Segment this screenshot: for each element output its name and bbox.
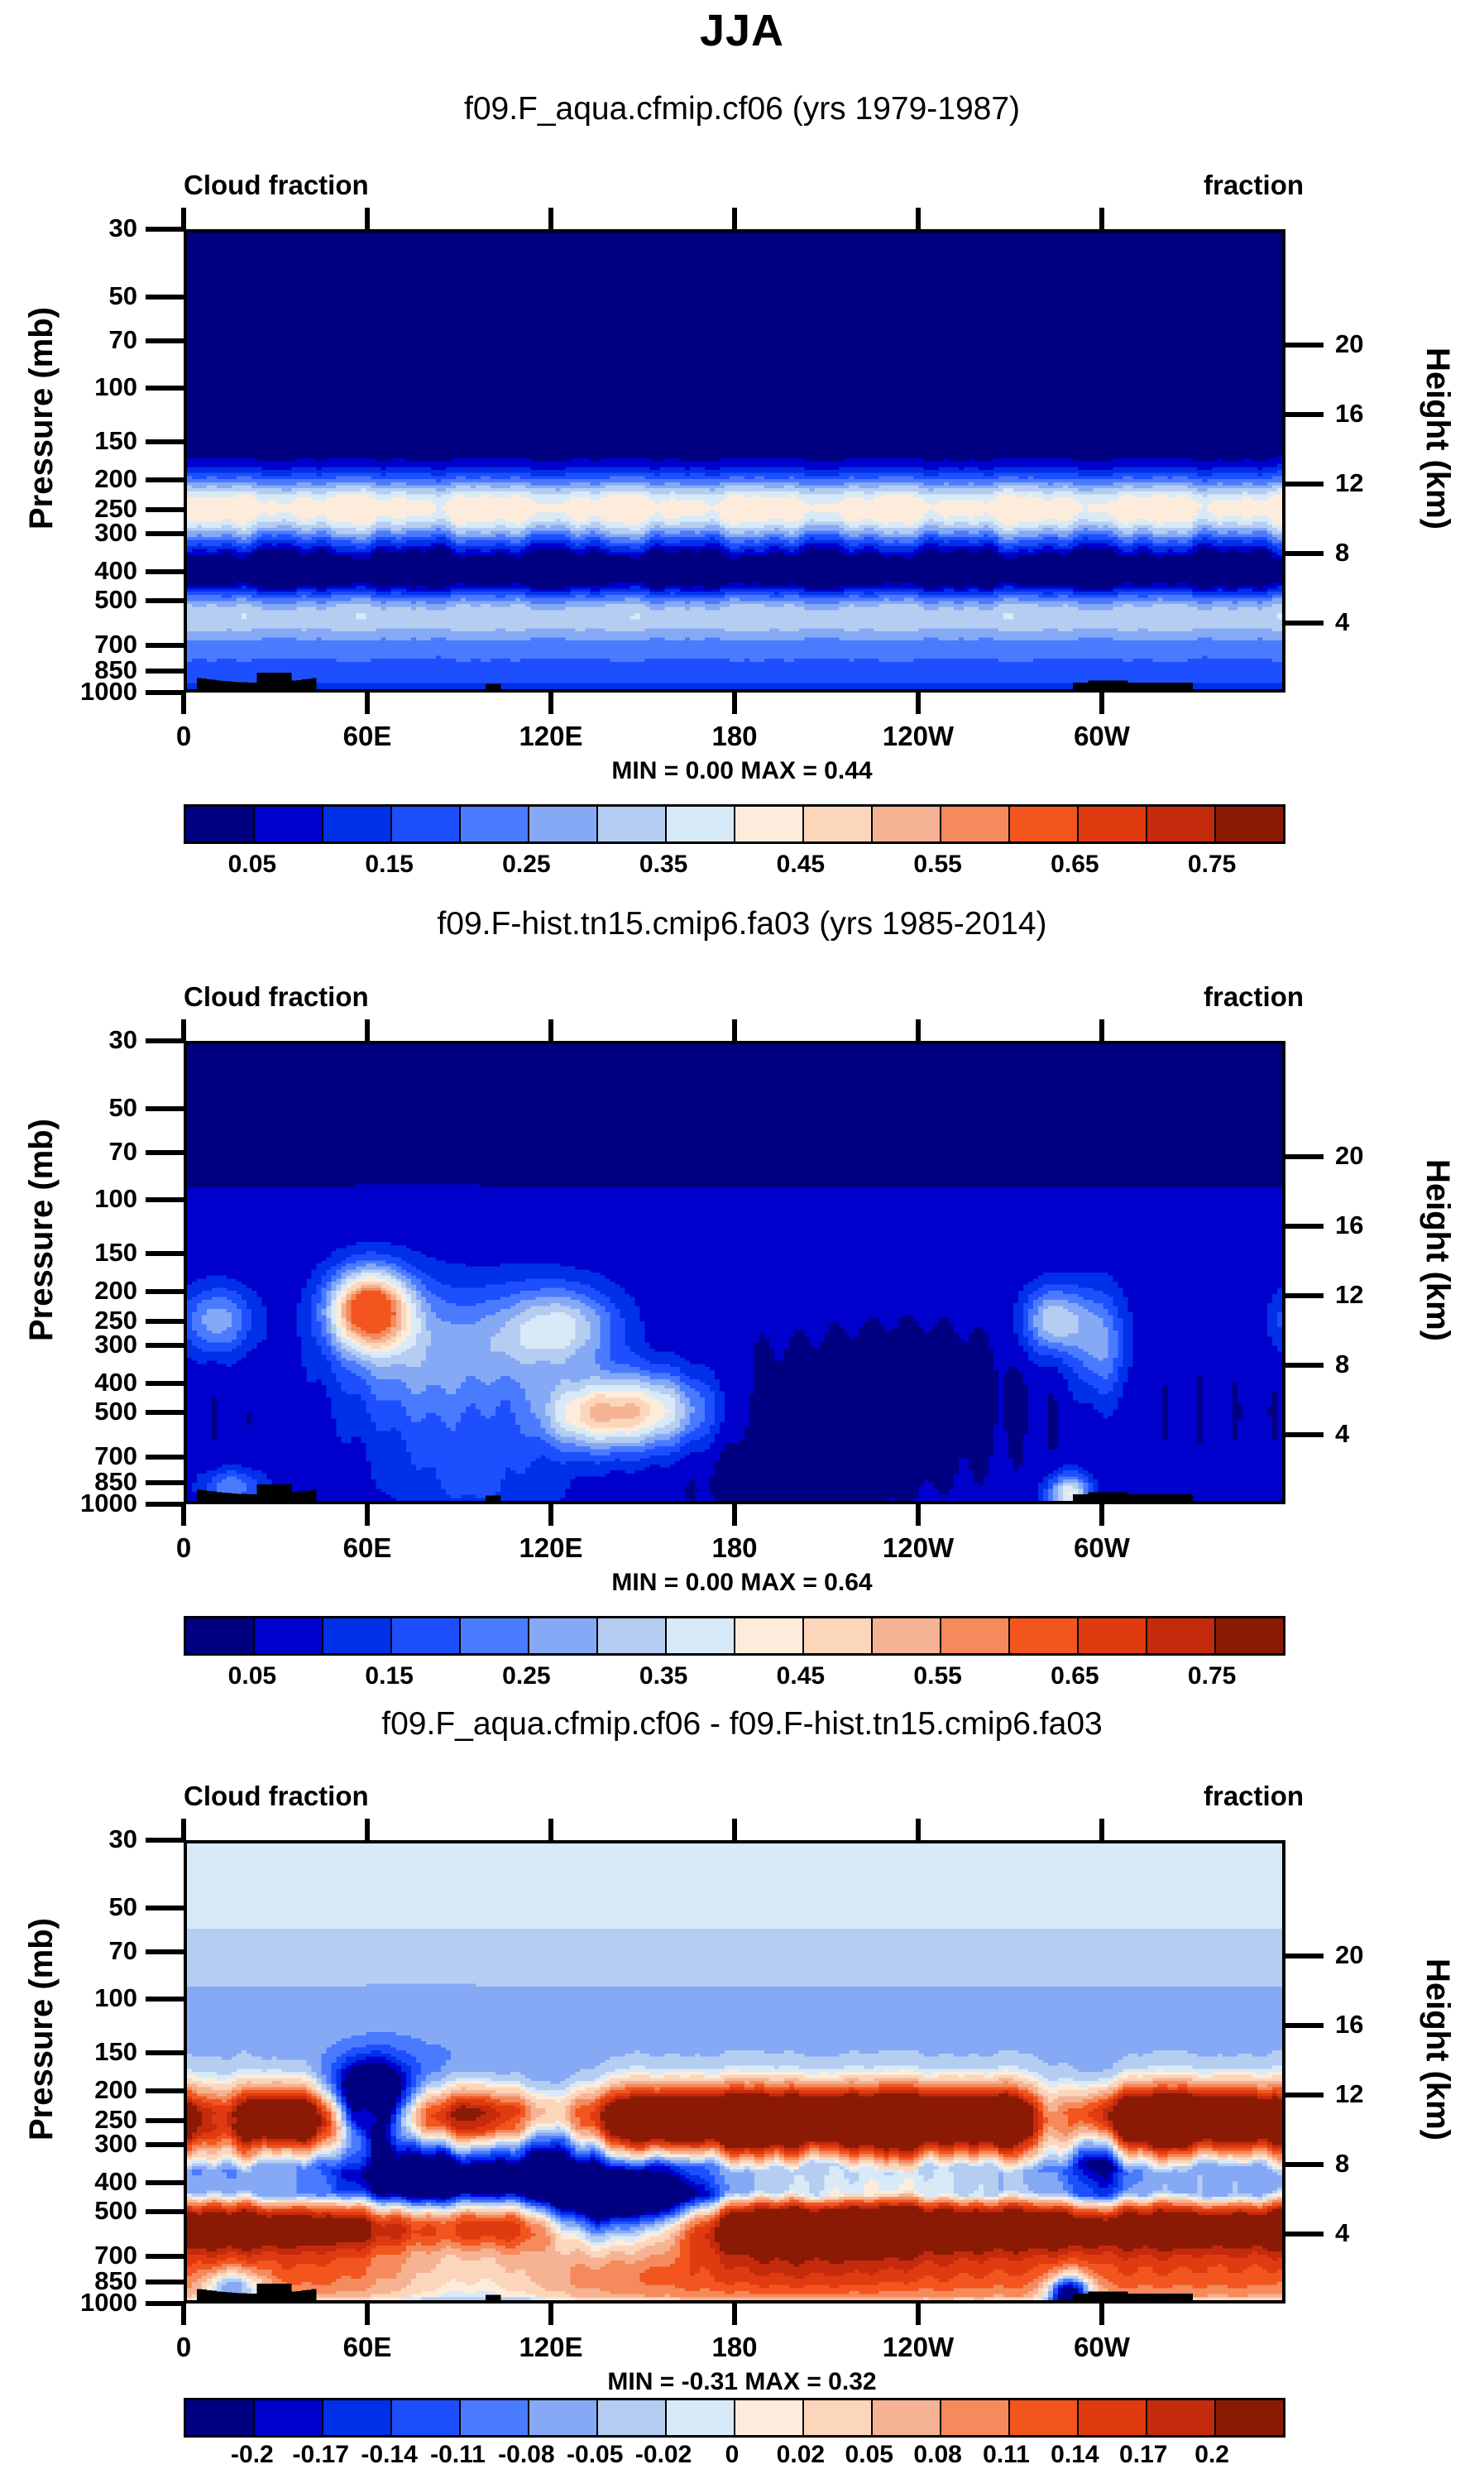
pressure-tick-label: 70 — [13, 1936, 137, 1966]
panel-3-y2-axis-name: Height (km) — [1419, 1958, 1456, 2141]
pressure-tick-label: 200 — [13, 1276, 137, 1306]
longitude-tick — [1099, 208, 1104, 229]
pressure-tick-label: 30 — [13, 213, 137, 243]
longitude-tick — [181, 693, 186, 714]
pressure-tick-label: 150 — [13, 1238, 137, 1268]
pressure-tick — [146, 531, 184, 536]
longitude-tick — [548, 1019, 553, 1041]
longitude-tick — [365, 1504, 370, 1526]
pressure-tick — [146, 1906, 184, 1910]
pressure-tick-label: 1000 — [13, 1489, 137, 1518]
colorbar-cell — [1147, 2400, 1216, 2435]
height-tick-label: 20 — [1335, 1940, 1434, 1970]
height-tick — [1285, 1432, 1324, 1437]
pressure-tick-label: 300 — [13, 2129, 137, 2159]
pressure-tick-label: 70 — [13, 1137, 137, 1167]
longitude-tick — [916, 1019, 921, 1041]
longitude-tick-label: 60E — [285, 721, 450, 752]
pressure-tick-label: 1000 — [13, 2288, 137, 2318]
longitude-tick — [548, 1504, 553, 1526]
colorbar-cell — [1010, 1618, 1079, 1653]
panel-2-variable-label: Cloud fraction — [184, 981, 369, 1013]
height-tick-label: 8 — [1335, 1350, 1434, 1379]
longitude-tick — [181, 1504, 186, 1526]
longitude-tick-label: 60W — [1019, 1532, 1185, 1564]
panel-1-title: f09.F_aqua.cfmip.cf06 (yrs 1979-1987) — [0, 91, 1484, 127]
longitude-tick-label: 60W — [1019, 2332, 1185, 2363]
pressure-tick — [146, 1381, 184, 1386]
colorbar-cell — [1010, 807, 1079, 841]
pressure-tick — [146, 569, 184, 574]
colorbar-cell — [1147, 807, 1216, 841]
height-tick-label: 4 — [1335, 607, 1434, 637]
pressure-tick — [146, 1949, 184, 1954]
height-tick — [1285, 621, 1324, 626]
pressure-tick — [146, 1197, 184, 1202]
colorbar-cell — [392, 807, 461, 841]
height-tick-label: 12 — [1335, 468, 1434, 498]
colorbar-cell — [804, 2400, 873, 2435]
longitude-tick — [181, 208, 186, 229]
colorbar-cell — [186, 2400, 255, 2435]
pressure-tick — [146, 227, 184, 232]
pressure-tick — [146, 386, 184, 391]
pressure-tick-label: 500 — [13, 2196, 137, 2226]
colorbar-cell — [529, 1618, 598, 1653]
pressure-tick — [146, 2254, 184, 2259]
pressure-tick-label: 300 — [13, 518, 137, 548]
height-tick-label: 4 — [1335, 2218, 1434, 2248]
longitude-tick-label: 120E — [468, 1532, 634, 1564]
pressure-tick-label: 300 — [13, 1330, 137, 1359]
longitude-tick-label: 180 — [652, 1532, 817, 1564]
colorbar-cell — [323, 1618, 392, 1653]
colorbar-cell — [1010, 2400, 1079, 2435]
panel-2-minmax: MIN = 0.00 MAX = 0.64 — [0, 1569, 1484, 1597]
height-tick-label: 12 — [1335, 2079, 1434, 2109]
contour-field — [187, 1044, 1282, 1501]
pressure-tick — [146, 439, 184, 444]
longitude-tick — [548, 693, 553, 714]
longitude-tick — [732, 1504, 737, 1526]
pressure-tick — [146, 669, 184, 674]
panel-2-colorbar — [184, 1616, 1285, 1656]
colorbar-cell — [598, 1618, 667, 1653]
height-tick — [1285, 2232, 1324, 2236]
longitude-tick-label: 0 — [101, 721, 266, 752]
colorbar-cell — [255, 807, 323, 841]
pressure-tick — [146, 2180, 184, 2185]
longitude-tick — [916, 1819, 921, 1840]
longitude-tick — [365, 1819, 370, 1840]
pressure-tick-label: 100 — [13, 372, 137, 402]
pressure-tick — [146, 1997, 184, 2002]
colorbar-cell — [186, 1618, 255, 1653]
colorbar-cell — [323, 807, 392, 841]
pressure-tick-label: 70 — [13, 325, 137, 355]
pressure-tick — [146, 598, 184, 603]
pressure-tick-label: 30 — [13, 1824, 137, 1854]
colorbar-cell — [667, 807, 735, 841]
colorbar-cell — [1147, 1618, 1216, 1653]
colorbar-cell — [1079, 807, 1147, 841]
colorbar-cell — [392, 2400, 461, 2435]
longitude-tick-label: 180 — [652, 721, 817, 752]
longitude-tick — [1099, 2304, 1104, 2325]
contour-field — [187, 233, 1282, 689]
pressure-tick-label: 400 — [13, 2167, 137, 2197]
longitude-tick — [732, 1819, 737, 1840]
height-tick — [1285, 482, 1324, 487]
longitude-tick — [1099, 1504, 1104, 1526]
pressure-tick — [146, 1410, 184, 1415]
colorbar-cell — [461, 1618, 529, 1653]
pressure-tick — [146, 1251, 184, 1256]
longitude-tick-label: 120E — [468, 2332, 634, 2363]
longitude-tick — [365, 1019, 370, 1041]
colorbar-cell — [873, 807, 941, 841]
pressure-tick-label: 150 — [13, 426, 137, 456]
colorbar-cell — [598, 2400, 667, 2435]
longitude-tick-label: 0 — [101, 1532, 266, 1564]
colorbar-cell — [735, 1618, 804, 1653]
colorbar-cell — [941, 2400, 1010, 2435]
height-tick — [1285, 2023, 1324, 2028]
colorbar-cell — [186, 807, 255, 841]
colorbar-cell — [1079, 2400, 1147, 2435]
height-tick — [1285, 1293, 1324, 1298]
longitude-tick-label: 120E — [468, 721, 634, 752]
pressure-tick — [146, 2050, 184, 2055]
pressure-tick-label: 400 — [13, 1368, 137, 1398]
pressure-tick-label: 30 — [13, 1025, 137, 1055]
contour-field — [187, 1843, 1282, 2300]
colorbar-cell — [735, 807, 804, 841]
panel-3-minmax: MIN = -0.31 MAX = 0.32 — [0, 2368, 1484, 2396]
longitude-tick-label: 120W — [835, 2332, 1001, 2363]
pressure-tick — [146, 643, 184, 648]
longitude-tick-label: 180 — [652, 2332, 817, 2363]
pressure-tick — [146, 1289, 184, 1294]
pressure-tick — [146, 338, 184, 343]
pressure-tick — [146, 507, 184, 512]
colorbar-cell — [667, 2400, 735, 2435]
height-tick-label: 4 — [1335, 1419, 1434, 1449]
pressure-tick — [146, 1150, 184, 1155]
colorbar-cell — [1216, 807, 1283, 841]
panel-1-plot-area — [184, 229, 1285, 693]
longitude-tick — [916, 208, 921, 229]
pressure-tick — [146, 477, 184, 482]
height-tick-label: 8 — [1335, 2149, 1434, 2179]
panel-1-minmax: MIN = 0.00 MAX = 0.44 — [0, 757, 1484, 785]
height-tick-label: 12 — [1335, 1280, 1434, 1310]
height-tick-label: 16 — [1335, 1211, 1434, 1240]
pressure-tick-label: 500 — [13, 585, 137, 615]
pressure-tick-label: 50 — [13, 1093, 137, 1123]
panel-3-units-label: fraction — [1204, 1781, 1304, 1812]
longitude-tick — [916, 693, 921, 714]
pressure-tick-label: 200 — [13, 464, 137, 494]
colorbar-cell — [735, 2400, 804, 2435]
pressure-tick — [146, 1343, 184, 1348]
longitude-tick — [365, 693, 370, 714]
colorbar-cell — [873, 1618, 941, 1653]
colorbar-cell — [529, 2400, 598, 2435]
longitude-tick-label: 120W — [835, 1532, 1001, 1564]
height-tick — [1285, 2162, 1324, 2167]
height-tick-label: 8 — [1335, 538, 1434, 568]
pressure-tick-label: 500 — [13, 1397, 137, 1426]
panel-3-colorbar — [184, 2398, 1285, 2438]
colorbar-tick-label: 0.2 — [1146, 2441, 1278, 2469]
colorbar-cell — [255, 1618, 323, 1653]
pressure-tick — [146, 2142, 184, 2147]
longitude-tick — [181, 1819, 186, 1840]
pressure-tick — [146, 2118, 184, 2123]
pressure-tick-label: 200 — [13, 2075, 137, 2105]
panel-1-variable-label: Cloud fraction — [184, 170, 369, 201]
height-tick — [1285, 343, 1324, 348]
longitude-tick-label: 0 — [101, 2332, 266, 2363]
longitude-tick — [1099, 693, 1104, 714]
pressure-tick — [146, 1838, 184, 1843]
colorbar-cell — [1216, 2400, 1283, 2435]
pressure-tick — [146, 1502, 184, 1507]
pressure-tick — [146, 2088, 184, 2093]
colorbar-cell — [529, 807, 598, 841]
height-tick — [1285, 1154, 1324, 1159]
figure-main-title: JJA — [0, 5, 1484, 56]
height-tick — [1285, 551, 1324, 556]
pressure-tick-label: 400 — [13, 556, 137, 586]
longitude-tick-label: 60E — [285, 2332, 450, 2363]
panel-1-colorbar — [184, 804, 1285, 844]
longitude-tick — [1099, 1819, 1104, 1840]
panel-2-title: f09.F-hist.tn15.cmip6.fa03 (yrs 1985-201… — [0, 906, 1484, 942]
height-tick-label: 20 — [1335, 1141, 1434, 1171]
longitude-tick — [916, 2304, 921, 2325]
longitude-tick-label: 120W — [835, 721, 1001, 752]
longitude-tick — [732, 208, 737, 229]
longitude-tick — [1099, 1019, 1104, 1041]
colorbar-cell — [598, 807, 667, 841]
colorbar-cell — [461, 2400, 529, 2435]
longitude-tick — [548, 1819, 553, 1840]
longitude-tick — [732, 2304, 737, 2325]
pressure-tick — [146, 1455, 184, 1460]
panel-3-title: f09.F_aqua.cfmip.cf06 - f09.F-hist.tn15.… — [0, 1706, 1484, 1743]
colorbar-cell — [941, 1618, 1010, 1653]
pressure-tick-label: 150 — [13, 2037, 137, 2067]
height-tick — [1285, 412, 1324, 417]
panel-2-y2-axis-name: Height (km) — [1419, 1159, 1456, 1341]
pressure-tick-label: 50 — [13, 1892, 137, 1922]
height-tick — [1285, 1363, 1324, 1368]
longitude-tick-label: 60W — [1019, 721, 1185, 752]
longitude-tick — [181, 2304, 186, 2325]
longitude-tick — [548, 2304, 553, 2325]
panel-2-plot-area — [184, 1041, 1285, 1504]
pressure-tick — [146, 1038, 184, 1043]
pressure-tick — [146, 2280, 184, 2284]
panel-2-units-label: fraction — [1204, 981, 1304, 1013]
pressure-tick — [146, 2301, 184, 2306]
colorbar-cell — [941, 807, 1010, 841]
colorbar-cell — [804, 807, 873, 841]
pressure-tick — [146, 1480, 184, 1485]
pressure-tick-label: 50 — [13, 281, 137, 311]
pressure-tick — [146, 2209, 184, 2214]
height-tick — [1285, 1954, 1324, 1958]
pressure-tick — [146, 1106, 184, 1111]
height-tick-label: 16 — [1335, 399, 1434, 429]
pressure-tick — [146, 690, 184, 695]
colorbar-cell — [323, 2400, 392, 2435]
height-tick-label: 20 — [1335, 329, 1434, 359]
colorbar-tick-label: 0.75 — [1129, 1662, 1295, 1690]
colorbar-cell — [667, 1618, 735, 1653]
longitude-tick — [732, 1019, 737, 1041]
pressure-tick-label: 1000 — [13, 677, 137, 707]
longitude-tick — [365, 2304, 370, 2325]
longitude-tick — [732, 693, 737, 714]
colorbar-cell — [873, 2400, 941, 2435]
colorbar-cell — [1079, 1618, 1147, 1653]
panel-3-plot-area — [184, 1840, 1285, 2304]
longitude-tick — [181, 1019, 186, 1041]
colorbar-cell — [461, 807, 529, 841]
colorbar-cell — [804, 1618, 873, 1653]
longitude-tick-label: 60E — [285, 1532, 450, 1564]
pressure-tick — [146, 295, 184, 300]
height-tick — [1285, 1224, 1324, 1229]
panel-1-units-label: fraction — [1204, 170, 1304, 201]
height-tick-label: 16 — [1335, 2010, 1434, 2040]
panel-3-variable-label: Cloud fraction — [184, 1781, 369, 1812]
longitude-tick — [916, 1504, 921, 1526]
pressure-tick-label: 100 — [13, 1983, 137, 2013]
colorbar-cell — [392, 1618, 461, 1653]
longitude-tick — [365, 208, 370, 229]
colorbar-tick-label: 0.75 — [1129, 851, 1295, 879]
colorbar-cell — [255, 2400, 323, 2435]
height-tick — [1285, 2093, 1324, 2097]
panel-1-y2-axis-name: Height (km) — [1419, 348, 1456, 530]
longitude-tick — [548, 208, 553, 229]
colorbar-cell — [1216, 1618, 1283, 1653]
pressure-tick — [146, 1319, 184, 1324]
pressure-tick-label: 100 — [13, 1184, 137, 1214]
